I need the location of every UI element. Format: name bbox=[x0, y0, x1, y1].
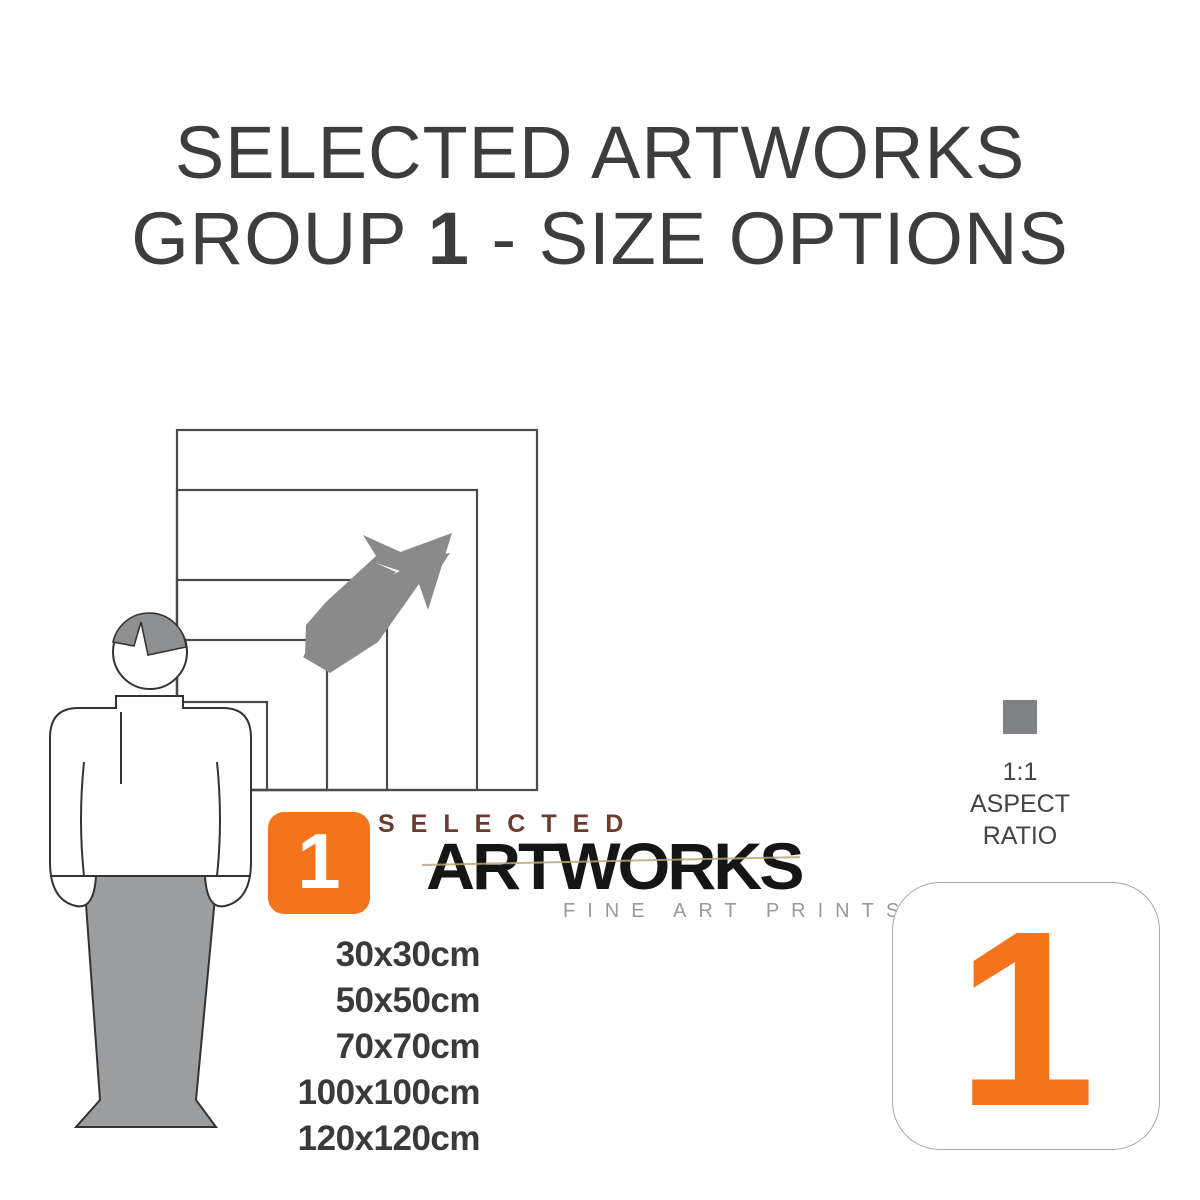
poster-canvas: SELECTED ARTWORKS GROUP 1 - SIZE OPTIONS bbox=[0, 0, 1200, 1200]
logo-artworks-text: ARTWORKS bbox=[426, 828, 802, 904]
logo-tagline-text: FINE ART PRINTS bbox=[563, 900, 911, 923]
aspect-ratio-value: 1:1 bbox=[930, 756, 1110, 788]
size-option-1: 30x30cm bbox=[168, 932, 480, 978]
logo-group-badge-number: 1 bbox=[297, 822, 340, 900]
size-option-2: 50x50cm bbox=[168, 978, 480, 1024]
title-line-2: GROUP 1 - SIZE OPTIONS bbox=[0, 196, 1200, 282]
brand-logo: 1 SELECTED ARTWORKS FINE ART PRINTS bbox=[268, 808, 838, 928]
logo-wordmark: SELECTED ARTWORKS FINE ART PRINTS bbox=[378, 808, 838, 926]
title-group-word: GROUP bbox=[131, 197, 428, 280]
size-option-5: 120x120cm bbox=[168, 1116, 480, 1162]
aspect-ratio-swatch-icon bbox=[1003, 700, 1037, 734]
title-size-options-word: - SIZE OPTIONS bbox=[470, 197, 1069, 280]
title-line-1: SELECTED ARTWORKS bbox=[0, 110, 1200, 196]
growth-arrow-icon bbox=[303, 533, 452, 673]
group-number-card: 1 bbox=[892, 882, 1160, 1150]
logo-group-badge: 1 bbox=[268, 812, 370, 914]
aspect-ratio-label-line2: RATIO bbox=[930, 820, 1110, 852]
figure-torso bbox=[50, 696, 251, 906]
group-number-value: 1 bbox=[956, 894, 1095, 1144]
title-group-number: 1 bbox=[428, 197, 470, 280]
page-title: SELECTED ARTWORKS GROUP 1 - SIZE OPTIONS bbox=[0, 110, 1200, 282]
aspect-ratio-block: 1:1 ASPECT RATIO bbox=[930, 700, 1110, 852]
print-size-list: 30x30cm 50x50cm 70x70cm 100x100cm 120x12… bbox=[168, 932, 480, 1162]
size-option-3: 70x70cm bbox=[168, 1024, 480, 1070]
size-option-4: 100x100cm bbox=[168, 1070, 480, 1116]
aspect-ratio-label-line1: ASPECT bbox=[930, 788, 1110, 820]
